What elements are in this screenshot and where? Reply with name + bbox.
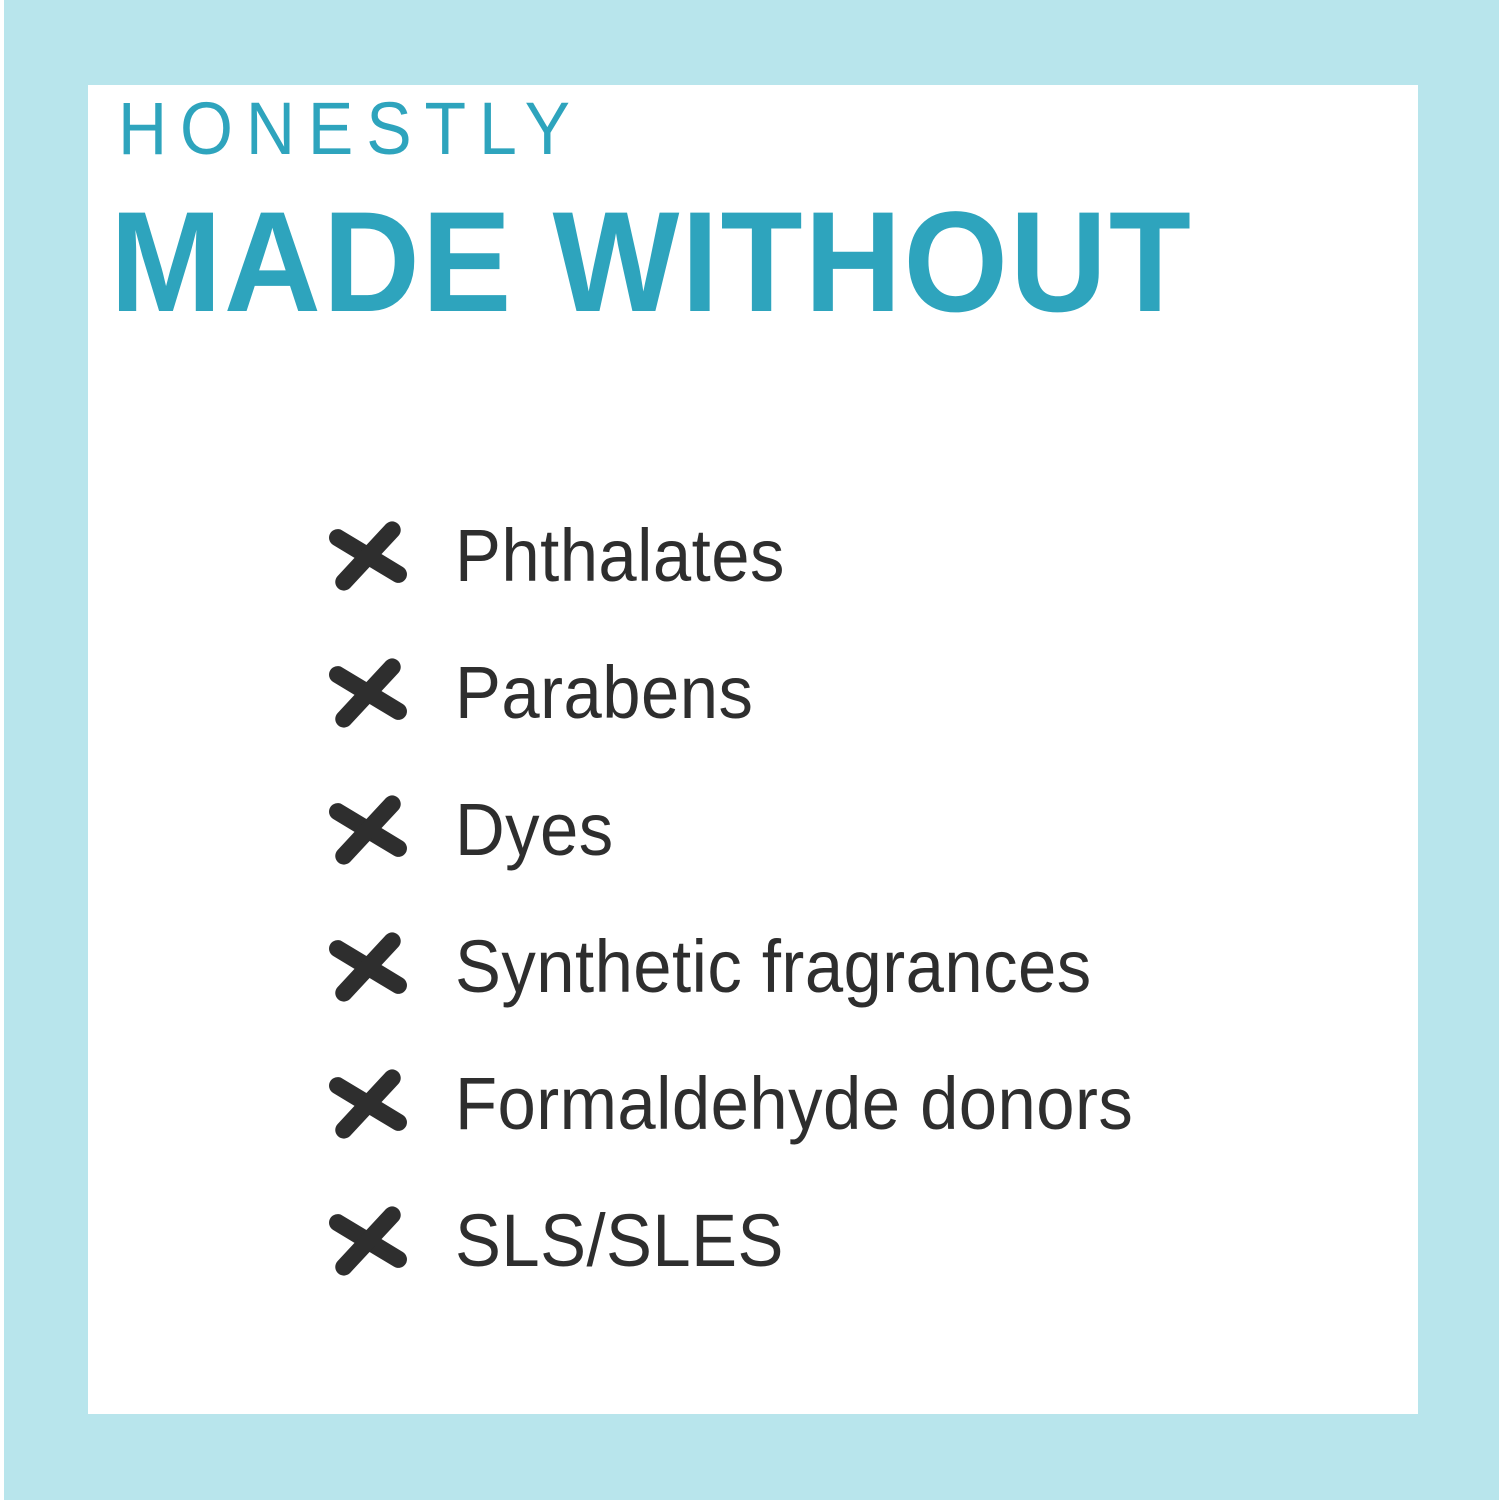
list-item: Parabens bbox=[325, 624, 1325, 761]
list-item: Phthalates bbox=[325, 487, 1325, 624]
list-item-label: SLS/SLES bbox=[455, 1201, 784, 1281]
x-mark-icon bbox=[325, 924, 411, 1010]
list-item: Formaldehyde donors bbox=[325, 1035, 1325, 1172]
x-mark-icon bbox=[325, 513, 411, 599]
headline-block: HONESTLY MADE WITHOUT bbox=[118, 90, 1318, 338]
x-mark-icon bbox=[325, 1061, 411, 1147]
list-item-label: Formaldehyde donors bbox=[455, 1064, 1133, 1144]
list-item-label: Synthetic fragrances bbox=[455, 927, 1092, 1007]
made-without-list: Phthalates Parabens bbox=[325, 487, 1325, 1309]
list-item: SLS/SLES bbox=[325, 1172, 1325, 1309]
x-mark-icon bbox=[325, 787, 411, 873]
list-item-label: Parabens bbox=[455, 653, 753, 733]
eyebrow-text: HONESTLY bbox=[118, 90, 1222, 168]
page-title: MADE WITHOUT bbox=[110, 188, 1246, 338]
list-item-label: Dyes bbox=[455, 790, 614, 870]
product-claim-graphic: HONESTLY MADE WITHOUT Phthalates bbox=[0, 0, 1499, 1500]
list-item-label: Phthalates bbox=[455, 516, 785, 596]
x-mark-icon bbox=[325, 650, 411, 736]
list-item: Synthetic fragrances bbox=[325, 898, 1325, 1035]
list-item: Dyes bbox=[325, 761, 1325, 898]
x-mark-icon bbox=[325, 1198, 411, 1284]
